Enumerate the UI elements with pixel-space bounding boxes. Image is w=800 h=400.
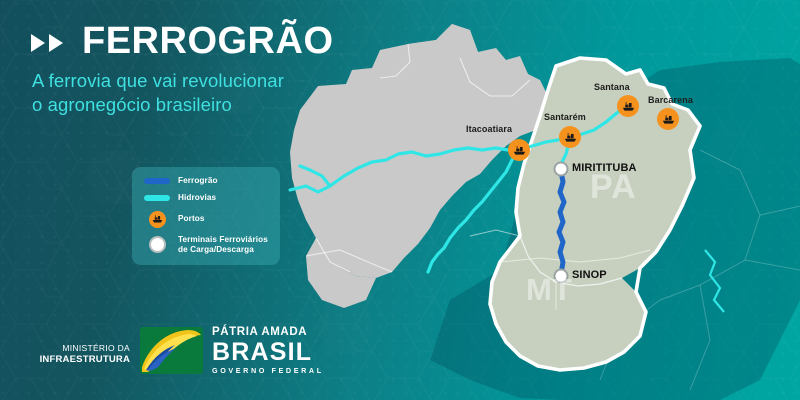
port-dot: [657, 108, 679, 130]
subtitle-line-1: A ferrovia que vai revolucionar: [32, 69, 390, 93]
gov-line-3: GOVERNO FEDERAL: [212, 367, 324, 374]
government-wordmark: PÁTRIA AMADA BRASIL GOVERNO FEDERAL: [212, 327, 324, 374]
legend-item-label: Ferrogrão: [178, 176, 218, 186]
ministry-line-1: MINISTÉRIO DA: [38, 343, 130, 354]
terminal-dot: [554, 162, 569, 177]
port-marker-itacoatiara[interactable]: [508, 139, 530, 161]
ministry-wordmark: MINISTÉRIO DA INFRAESTRUTURA: [38, 343, 130, 366]
subtitle-line-2: o agronegócio brasileiro: [32, 93, 390, 117]
title-row: FERROGRÃO: [30, 22, 390, 60]
port-dot: [508, 139, 530, 161]
terminal-marker-miritituba[interactable]: [554, 162, 569, 177]
port-label-itacoatiara: Itacoatiara: [466, 124, 512, 134]
ship-icon: [513, 146, 526, 155]
page-title: FERROGRÃO: [82, 22, 334, 60]
legend-item-label: Portos: [178, 214, 205, 224]
port-label-barcarena: Barcarena: [648, 95, 693, 105]
terminal-circle-icon: [142, 236, 172, 253]
railway-line-swatch: [142, 178, 172, 184]
ship-icon: [622, 102, 635, 111]
legend-item-ferrograo[interactable]: Ferrogrão: [142, 176, 270, 186]
waterway-line-swatch: [142, 195, 172, 201]
legend-item-label: Hidrovias: [178, 193, 216, 203]
port-dot: [559, 126, 581, 148]
port-label-santana: Santana: [594, 82, 630, 92]
legend-item-hidrovias[interactable]: Hidrovias: [142, 193, 270, 203]
state-label-pa: PA: [590, 168, 637, 207]
legend-item-label: Terminais Ferroviários de Carga/Descarga: [178, 235, 268, 256]
gov-line-1: PÁTRIA AMADA: [212, 327, 324, 339]
double-chevron-right-icon: [30, 32, 70, 54]
port-dot: [617, 95, 639, 117]
ship-icon: [564, 133, 577, 142]
legend-item-portos[interactable]: Portos: [142, 211, 270, 228]
government-logo: PÁTRIA AMADA BRASIL GOVERNO FEDERAL: [140, 327, 324, 374]
map-legend: Ferrogrão Hidrovias Portos: [132, 167, 280, 265]
page-subtitle: A ferrovia que vai revolucionar o agrone…: [32, 69, 390, 117]
gov-line-2: BRASIL: [212, 340, 324, 365]
port-marker-swatch: [142, 211, 172, 228]
ministry-line-2: INFRAESTRUTURA: [38, 354, 130, 366]
legend-item-terminais[interactable]: Terminais Ferroviários de Carga/Descarga: [142, 235, 270, 256]
brazil-flag-logo: [140, 327, 203, 374]
infographic-poster: FERROGRÃO A ferrovia que vai revoluciona…: [0, 0, 800, 400]
state-label-mt: MT: [526, 272, 573, 308]
ship-icon: [152, 215, 163, 223]
header-block: FERROGRÃO A ferrovia que vai revoluciona…: [30, 22, 390, 117]
port-label-santarem: Santarém: [544, 112, 586, 122]
ship-icon: [662, 115, 675, 124]
port-marker-barcarena[interactable]: [657, 108, 679, 130]
legend-terminal-line-1: Terminais Ferroviários: [178, 235, 268, 244]
port-marker-santarem[interactable]: [559, 126, 581, 148]
legend-terminal-line-2: de Carga/Descarga: [178, 245, 254, 254]
port-marker-santana[interactable]: [617, 95, 639, 117]
state-roraima: [408, 24, 478, 60]
terminal-label-sinop: SINOP: [572, 269, 607, 281]
